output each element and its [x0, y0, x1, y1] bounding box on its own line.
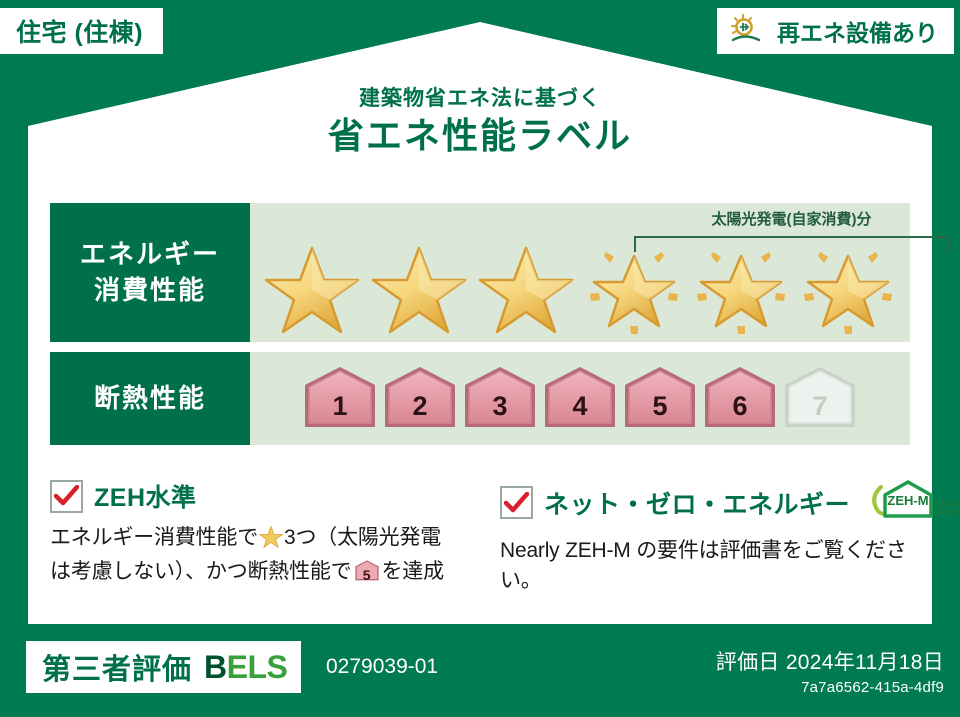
title-subtitle: 建築物省エネ法に基づく [0, 86, 960, 111]
insulation-performance-row: 断熱性能 1 [50, 352, 910, 445]
net-zero-energy-description: Nearly ZEH-M の要件は評価書をご覧ください。 [500, 536, 920, 597]
grade-badge: 3 [461, 363, 539, 435]
star-icon-solar [800, 240, 896, 336]
zeh-standard-title: ZEH水準 [94, 478, 197, 514]
energy-stars-panel: 太陽光発電(自家消費)分 [250, 203, 910, 342]
bels-wordmark: BELS [204, 649, 287, 686]
badge-dwelling-type: 住宅 (住棟) [0, 8, 163, 54]
grade-number: 1 [301, 391, 379, 422]
grade-badge: 5 [621, 363, 699, 435]
zeh-desc-part3: を達成 [382, 560, 444, 583]
check-icon [54, 485, 79, 507]
grade-number: 7 [781, 391, 859, 422]
insulation-label: 断熱性能 [94, 381, 206, 416]
grade-badge: 6 [701, 363, 779, 435]
zeh-section: ZEH水準 エネルギー消費性能で3つ（太陽光発電は考慮しない）、かつ断熱性能で5… [50, 478, 920, 597]
insulation-grade-group: 1 2 3 [250, 352, 910, 445]
third-party-evaluation-label: 第三者評価 [42, 646, 192, 688]
checkbox-zeh-standard[interactable] [50, 480, 83, 513]
star-rating-group [250, 238, 910, 338]
title-block: 建築物省エネ法に基づく 省エネ性能ラベル [0, 86, 960, 158]
evaluation-date: 評価日 2024年11月18日 [716, 646, 944, 676]
svg-text:Nearly: Nearly [935, 499, 957, 508]
inline-star-icon [259, 530, 283, 553]
insulation-performance-label-cell: 断熱性能 [50, 352, 250, 445]
zeh-standard-header: ZEH水準 [50, 478, 470, 514]
energy-performance-label-cell: エネルギー 消費性能 [50, 203, 250, 342]
check-icon [504, 492, 529, 514]
footer-evaluation-info: 評価日 2024年11月18日 7a7a6562-415a-4df9 [716, 646, 944, 696]
zeh-standard-description: エネルギー消費性能で3つ（太陽光発電は考慮しない）、かつ断熱性能で5を達成 [50, 523, 470, 593]
grade-number: 6 [701, 391, 779, 422]
zeh-desc-part2: は考慮しない）、かつ断熱性能で [50, 560, 352, 583]
star-icon [478, 240, 574, 336]
energy-performance-row: エネルギー 消費性能 太陽光発電(自家消費)分 [50, 203, 910, 342]
solar-sun-icon [729, 12, 769, 51]
grade-badge: 2 [381, 363, 459, 435]
star-icon-solar [693, 240, 789, 336]
grade-number: 3 [461, 391, 539, 422]
grade-badge: 4 [541, 363, 619, 435]
zeh-standard-column: ZEH水準 エネルギー消費性能で3つ（太陽光発電は考慮しない）、かつ断熱性能で5… [50, 478, 470, 597]
grade-number: 4 [541, 391, 619, 422]
zeh-m-logo: ZEH-M Nearly ZEH-M [865, 478, 957, 527]
bels-letters-els: ELS [227, 649, 288, 685]
checkbox-net-zero-energy[interactable] [500, 486, 533, 519]
insulation-grades-panel: 1 2 3 [250, 352, 910, 445]
net-zero-energy-column: ネット・ゼロ・エネルギー ZEH-M Nearly ZEH-M Nearly Z… [500, 478, 920, 597]
grade-badge: 1 [301, 363, 379, 435]
net-zero-energy-title: ネット・ゼロ・エネルギー [544, 485, 850, 521]
bels-letter-b: B [204, 649, 227, 685]
star-icon [264, 240, 360, 336]
label-uuid: 7a7a6562-415a-4df9 [716, 679, 944, 696]
svg-text:ZEH-M: ZEH-M [887, 493, 928, 508]
badge-dwelling-label: 住宅 (住棟) [16, 13, 143, 49]
zeh-desc-part1: エネルギー消費性能で [50, 526, 258, 549]
bels-certificate-number: 0279039-01 [326, 655, 438, 679]
grade-number: 2 [381, 391, 459, 422]
solar-bracket-caption: 太陽光発電(自家消費)分 [634, 208, 949, 229]
svg-text:ZEH-M: ZEH-M [935, 508, 957, 517]
net-zero-energy-header: ネット・ゼロ・エネルギー ZEH-M Nearly ZEH-M [500, 478, 920, 527]
energy-performance-label: 住宅 (住棟) 再エネ設備あり 建築物省エネ法に基づく 省エネ性能ラベル [0, 0, 960, 717]
grade-badge-inactive: 7 [781, 363, 859, 435]
energy-label-line2: 消費性能 [94, 273, 206, 308]
star-icon-solar [586, 240, 682, 336]
star-icon [371, 240, 467, 336]
bels-logo-box: 第三者評価 BELS [26, 641, 301, 693]
grade-number: 5 [621, 391, 699, 422]
page-title: 省エネ性能ラベル [0, 113, 960, 158]
inline-grade-badge: 5 [354, 559, 380, 592]
zeh-desc-star-count: 3つ（太陽光発電 [284, 526, 441, 549]
badge-renewable-label: 再エネ設備あり [777, 14, 938, 48]
badge-renewable-equipment: 再エネ設備あり [717, 8, 954, 54]
energy-label-line1: エネルギー [80, 237, 220, 272]
inline-grade-number: 5 [354, 565, 380, 585]
